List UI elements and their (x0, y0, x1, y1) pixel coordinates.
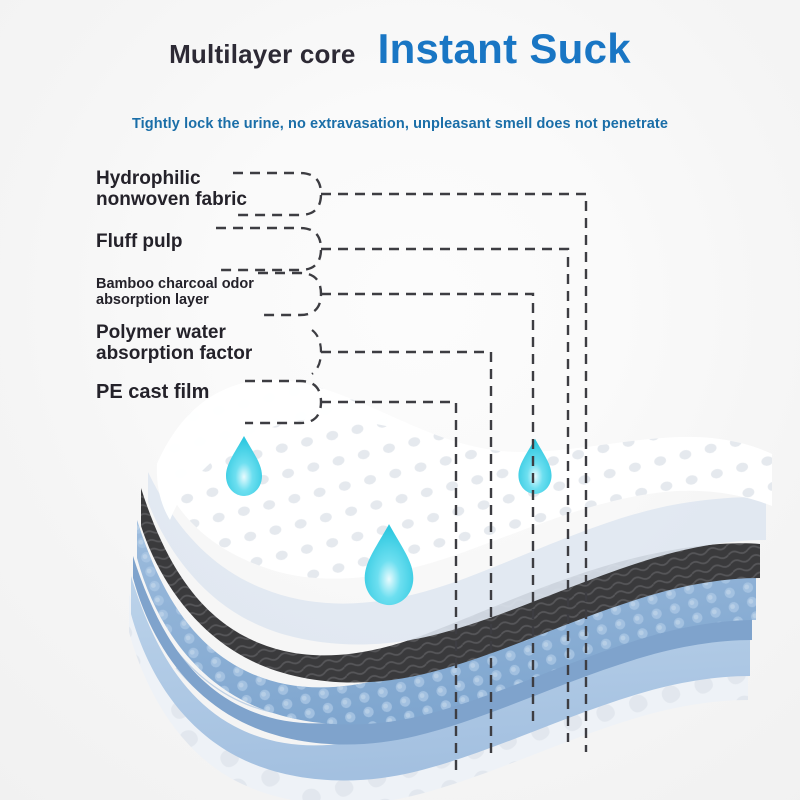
callout-label-polymer-water-absorption-factor: Polymer water absorption factor (96, 322, 252, 365)
callout-line-1: Bamboo charcoal odor (96, 276, 254, 292)
callout-label-bamboo-charcoal-odor-absorption-layer: Bamboo charcoal odor absorption layer (96, 276, 254, 308)
callout-line-1: Fluff pulp (96, 231, 183, 252)
callout-label-pe-cast-film: PE cast film (96, 381, 209, 403)
callout-label-hydrophilic-nonwoven-fabric: Hydrophilic nonwoven fabric (96, 168, 247, 211)
callout-line-1: Hydrophilic (96, 168, 247, 189)
callout-line-1: Polymer water (96, 322, 252, 343)
infographic-canvas: Multilayer core Instant Suck Tightly loc… (0, 0, 800, 800)
callout-line-2: absorption layer (96, 292, 254, 308)
callout-line-2: nonwoven fabric (96, 189, 247, 210)
callout-line-2: absorption factor (96, 343, 252, 364)
callout-label-fluff-pulp: Fluff pulp (96, 231, 183, 252)
water-droplet-right (518, 439, 551, 494)
callout-line-1: PE cast film (96, 381, 209, 403)
